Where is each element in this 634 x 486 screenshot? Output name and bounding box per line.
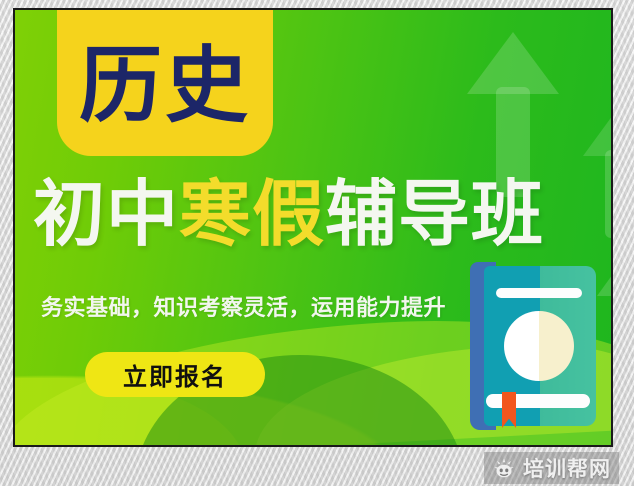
up-arrow-icon-small bbox=[583, 108, 611, 238]
book-icon bbox=[470, 262, 596, 430]
sun-face-icon bbox=[492, 456, 516, 480]
headline-part-1: 初中 bbox=[33, 172, 179, 256]
book-title-bar bbox=[496, 288, 582, 298]
subject-tag-label: 历史 bbox=[79, 36, 251, 127]
promo-banner-frame: 历史 初中寒假辅导班 务实基础，知识考察灵活，运用能力提升 立即报名 bbox=[13, 8, 613, 447]
watermark: 培训帮网 bbox=[484, 452, 619, 484]
banner-subtitle: 务实基础，知识考察灵活，运用能力提升 bbox=[41, 290, 446, 322]
headline-part-3: 辅导班 bbox=[325, 172, 544, 256]
headline-part-2: 寒假 bbox=[179, 172, 325, 256]
page-title: 初中寒假辅导班 bbox=[33, 178, 544, 250]
book-circle-emblem bbox=[504, 311, 574, 381]
book-cover bbox=[484, 266, 596, 426]
page-background: 历史 初中寒假辅导班 务实基础，知识考察灵活，运用能力提升 立即报名 bbox=[0, 0, 634, 486]
enroll-now-button-label: 立即报名 bbox=[123, 357, 227, 392]
subject-tag: 历史 bbox=[57, 10, 273, 156]
promo-banner: 历史 初中寒假辅导班 务实基础，知识考察灵活，运用能力提升 立即报名 bbox=[15, 10, 611, 445]
watermark-label: 培训帮网 bbox=[523, 453, 611, 483]
book-bottom-bar bbox=[486, 394, 590, 408]
enroll-now-button[interactable]: 立即报名 bbox=[85, 352, 265, 397]
